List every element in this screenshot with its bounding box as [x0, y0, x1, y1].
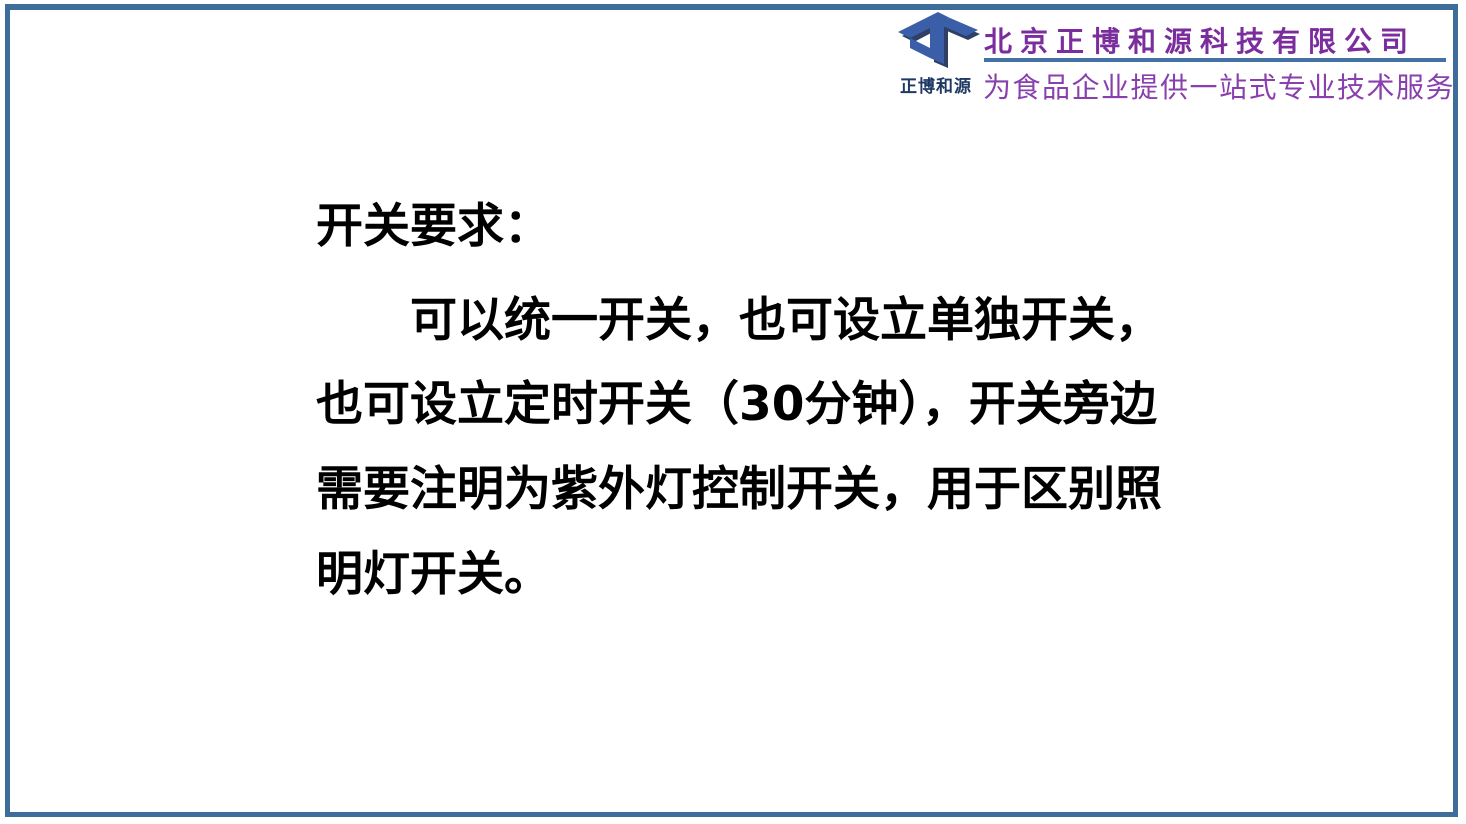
slide-canvas: 正博和源 北京正博和源科技有限公司 为食品企业提供一站式专业技术服务 开关要求：…: [0, 0, 1466, 824]
content-line-3: 需要注明为紫外灯控制开关，用于区别照: [316, 466, 1162, 513]
content-heading: 开关要求：: [316, 203, 551, 250]
slide-content: 开关要求： 可以统一开关，也可设立单独开关， 也可设立定时开关（30分钟），开关…: [0, 0, 1466, 824]
content-line-4: 明灯开关。: [316, 551, 551, 598]
content-line-2: 也可设立定时开关（30分钟），开关旁边: [316, 381, 1157, 428]
content-line-1: 可以统一开关，也可设立单独开关，: [316, 297, 1162, 344]
